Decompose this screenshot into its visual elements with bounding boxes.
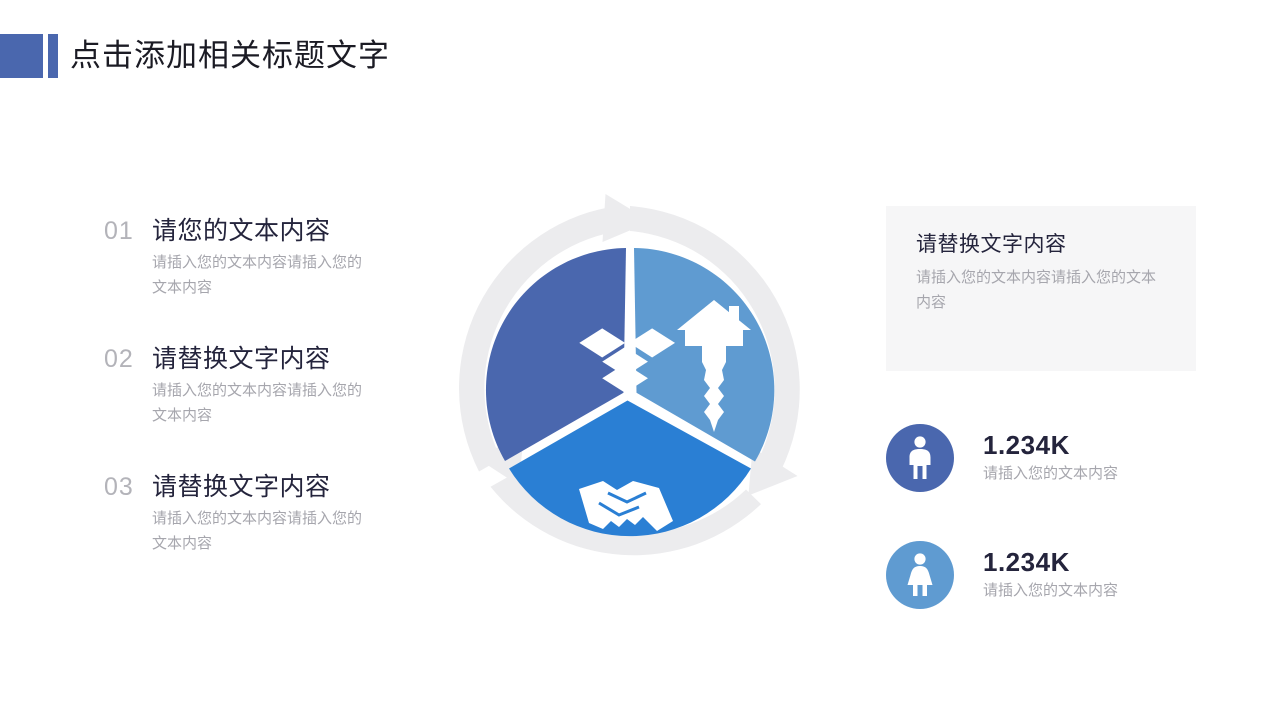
female-icon-circle	[886, 541, 954, 609]
list-item[interactable]: 02 请替换文字内容 请插入您的文本内容请插入您的文本内容	[104, 342, 404, 428]
stat-caption: 请插入您的文本内容	[983, 462, 1118, 486]
left-item-list: 01 请您的文本内容 请插入您的文本内容请插入您的文本内容 02 请替换文字内容…	[104, 214, 404, 556]
list-item-number: 02	[104, 342, 152, 376]
list-item[interactable]: 01 请您的文本内容 请插入您的文本内容请插入您的文本内容	[104, 214, 404, 300]
male-icon-circle	[886, 424, 954, 492]
male-icon	[905, 436, 935, 480]
list-item-title: 请您的文本内容	[152, 214, 404, 248]
title-accent-bar	[48, 34, 58, 78]
page-title-text: 点击添加相关标题文字	[70, 34, 390, 78]
stat-caption: 请插入您的文本内容	[983, 579, 1118, 603]
three-part-cycle-diagram	[430, 190, 830, 590]
stat-list: 1.234K 请插入您的文本内容 1.234K 请插入您的文本内容	[886, 424, 1216, 609]
list-item-text: 请替换文字内容 请插入您的文本内容请插入您的文本内容	[152, 470, 404, 556]
list-item-description: 请插入您的文本内容请插入您的文本内容	[152, 506, 367, 556]
title-accent-block	[0, 34, 43, 78]
female-icon	[905, 553, 935, 597]
stat-value: 1.234K	[983, 547, 1118, 577]
stat-row-male[interactable]: 1.234K 请插入您的文本内容	[886, 424, 1216, 492]
list-item-text: 请您的文本内容 请插入您的文本内容请插入您的文本内容	[152, 214, 404, 300]
list-item-description: 请插入您的文本内容请插入您的文本内容	[152, 378, 367, 428]
list-item-number: 03	[104, 470, 152, 504]
list-item-description: 请插入您的文本内容请插入您的文本内容	[152, 250, 367, 300]
stat-body: 1.234K 请插入您的文本内容	[983, 547, 1118, 603]
list-item[interactable]: 03 请替换文字内容 请插入您的文本内容请插入您的文本内容	[104, 470, 404, 556]
list-item-text: 请替换文字内容 请插入您的文本内容请插入您的文本内容	[152, 342, 404, 428]
right-callout-description: 请插入您的文本内容请插入您的文本内容	[916, 265, 1156, 315]
right-callout-title: 请替换文字内容	[916, 230, 1170, 260]
page-title: 点击添加相关标题文字	[0, 34, 390, 78]
right-callout-box: 请替换文字内容 请插入您的文本内容请插入您的文本内容	[886, 206, 1196, 371]
stat-value: 1.234K	[983, 430, 1118, 460]
list-item-title: 请替换文字内容	[152, 470, 404, 504]
list-item-number: 01	[104, 214, 152, 248]
stat-body: 1.234K 请插入您的文本内容	[983, 430, 1118, 486]
stat-row-female[interactable]: 1.234K 请插入您的文本内容	[886, 541, 1216, 609]
list-item-title: 请替换文字内容	[152, 342, 404, 376]
